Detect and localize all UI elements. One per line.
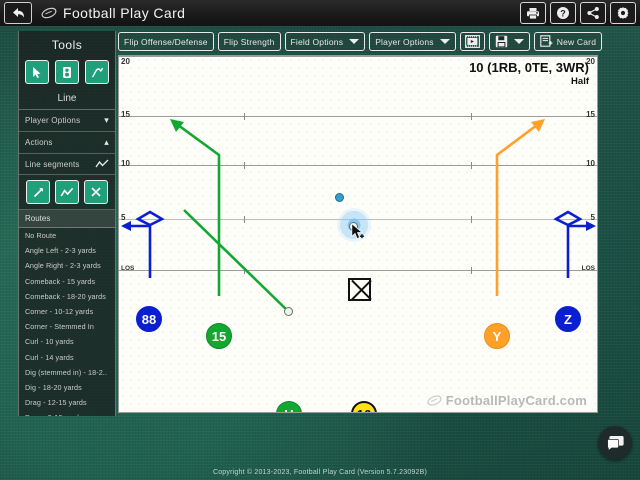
- route-item[interactable]: Comeback - 15 yards: [19, 274, 115, 289]
- share-button[interactable]: [580, 2, 606, 24]
- active-tool-label: Line: [19, 90, 115, 110]
- line-node-start[interactable]: [335, 193, 344, 202]
- player-options-dropdown[interactable]: Player Options: [369, 32, 456, 51]
- player-options-label: Player Options: [375, 37, 434, 47]
- field-options-label: Field Options: [291, 37, 344, 47]
- route-item[interactable]: Curl - 10 yards: [19, 334, 115, 349]
- routes-header: Routes: [19, 210, 115, 228]
- route-item[interactable]: Dig - 18-20 yards: [19, 380, 115, 395]
- route-item[interactable]: Dig (stemmed in) - 18-2..: [19, 365, 115, 380]
- sidebar-section-player-options[interactable]: Player Options ▾: [19, 110, 115, 132]
- player-token[interactable]: 88: [136, 306, 162, 332]
- sidebar-title: Tools: [19, 31, 115, 58]
- title-bar: Football Play Card ?: [0, 0, 640, 26]
- mouse-cursor-icon: [351, 223, 365, 241]
- route-path-Y[interactable]: [497, 119, 545, 296]
- main-toolbar: Flip Offense/Defense Flip Strength Field…: [118, 31, 602, 52]
- share-icon: [586, 6, 600, 20]
- help-button[interactable]: ?: [550, 2, 576, 24]
- player-token-icon: [61, 66, 73, 79]
- close-x-icon: [90, 186, 102, 198]
- back-button[interactable]: [4, 2, 32, 24]
- chevron-down-icon: [514, 39, 524, 44]
- player-token[interactable]: Y: [484, 323, 510, 349]
- route-item[interactable]: Angle Right - 2-3 yards: [19, 258, 115, 273]
- add-segment-button[interactable]: [26, 180, 50, 204]
- zigzag-icon: [95, 159, 109, 169]
- routes-list[interactable]: No Route Angle Left - 2-3 yards Angle Ri…: [19, 228, 115, 416]
- line-tool-button[interactable]: [85, 60, 109, 84]
- zigzag-icon: [60, 187, 74, 198]
- sidebar-section-actions[interactable]: Actions ▴: [19, 132, 115, 154]
- field-options-dropdown[interactable]: Field Options: [285, 32, 366, 51]
- copyright-text: Copyright © 2013-2023, Football Play Car…: [213, 469, 427, 476]
- question-mark-icon: ?: [556, 6, 570, 20]
- flip-strength-button[interactable]: Flip Strength: [218, 32, 281, 51]
- arrow-up-right-icon: [32, 186, 45, 199]
- tools-sidebar: Tools Line Player Opt: [18, 31, 116, 416]
- app-title: Football Play Card: [63, 5, 185, 21]
- route-path-88[interactable]: [121, 212, 162, 278]
- flip-offense-defense-button[interactable]: Flip Offense/Defense: [118, 32, 214, 51]
- football-logo-icon: [426, 394, 443, 407]
- watermark: FootballPlayCard.com: [426, 393, 587, 408]
- footer-bar: Copyright © 2013-2023, Football Play Car…: [0, 464, 640, 480]
- svg-text:?: ?: [560, 8, 566, 18]
- chevron-down-icon: [440, 39, 450, 44]
- football-logo-icon: [40, 6, 58, 20]
- app-background: Football Play Card ?: [0, 0, 640, 480]
- center-marker[interactable]: [348, 278, 371, 301]
- route-item[interactable]: Corner - Stemmed In: [19, 319, 115, 334]
- select-tool-button[interactable]: [25, 60, 49, 84]
- edit-segment-button[interactable]: [55, 180, 79, 204]
- new-card-icon: [540, 35, 553, 48]
- route-path-H[interactable]: [184, 210, 289, 312]
- player-token[interactable]: Z: [555, 306, 581, 332]
- route-path-Z[interactable]: [556, 212, 596, 278]
- chat-button[interactable]: [598, 426, 632, 460]
- route-item[interactable]: No Route: [19, 228, 115, 243]
- back-arrow-icon: [11, 7, 26, 19]
- settings-button[interactable]: [610, 2, 636, 24]
- route-item[interactable]: Corner - 10-12 yards: [19, 304, 115, 319]
- new-card-label: New Card: [557, 37, 596, 47]
- chevron-down-icon: ▾: [104, 115, 109, 126]
- player-tool-button[interactable]: [55, 60, 79, 84]
- segment-action-buttons: [19, 175, 115, 210]
- floppy-disk-icon: [495, 35, 508, 48]
- chat-bubble-icon: [606, 435, 624, 452]
- tool-buttons: [19, 58, 115, 90]
- delete-segment-button[interactable]: [84, 180, 108, 204]
- titlebar-actions: ?: [520, 2, 636, 24]
- chevron-down-icon: [349, 39, 359, 44]
- sidebar-section-label: Actions: [25, 138, 53, 147]
- chevron-up-icon: ▴: [104, 137, 109, 148]
- play-field-canvas[interactable]: 20 15 10 5 LOS 20 15 10 5 LOS 10 (1RB, 0…: [118, 55, 598, 413]
- gear-icon: [616, 6, 630, 20]
- route-path-15[interactable]: [170, 119, 219, 296]
- route-item[interactable]: Drag - 8-10 yards: [19, 410, 115, 416]
- sidebar-section-label: Line segments: [25, 160, 80, 169]
- watermark-text: FootballPlayCard.com: [446, 393, 587, 408]
- save-dropdown-button[interactable]: [489, 32, 530, 51]
- sidebar-section-label: Player Options: [25, 116, 80, 125]
- route-item[interactable]: Drag - 12-15 yards: [19, 395, 115, 410]
- route-item[interactable]: Angle Left - 2-3 yards: [19, 243, 115, 258]
- film-play-icon: [465, 35, 480, 48]
- new-card-button[interactable]: New Card: [534, 32, 602, 51]
- print-button[interactable]: [520, 2, 546, 24]
- line-draw-icon: [91, 66, 104, 79]
- route-item[interactable]: Comeback - 18-20 yards: [19, 289, 115, 304]
- cursor-arrow-icon: [31, 66, 43, 79]
- sidebar-section-line-segments[interactable]: Line segments: [19, 154, 115, 175]
- player-token[interactable]: 15: [206, 323, 232, 349]
- printer-icon: [526, 7, 540, 20]
- animate-play-button[interactable]: [460, 32, 485, 51]
- line-node-origin[interactable]: [284, 307, 293, 316]
- route-item[interactable]: Curl - 14 yards: [19, 350, 115, 365]
